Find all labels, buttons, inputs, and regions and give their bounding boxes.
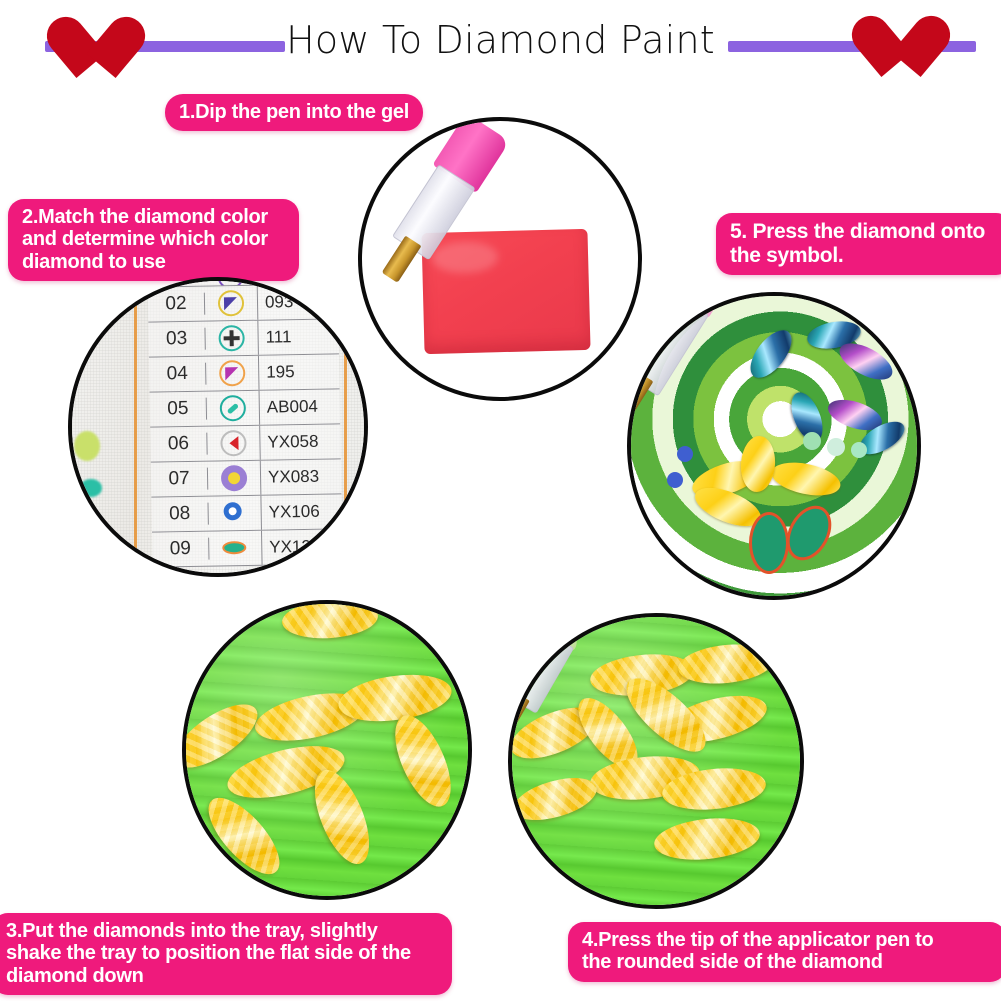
step-5-line-2: the symbol. xyxy=(730,244,998,268)
dot-ring-symbol xyxy=(221,465,247,491)
chart-row-code: 195 xyxy=(259,361,339,382)
gem-round xyxy=(677,446,693,462)
diamonds-in-tray-photo xyxy=(182,600,472,900)
chart-row-code: YX083 xyxy=(261,466,341,487)
chart-row-code: YX106 xyxy=(262,501,342,522)
step-4-line-1: 4.Press the tip of the applicator pen to xyxy=(582,929,992,951)
chart-row-symbol-cell xyxy=(207,426,261,461)
canvas-margin-rule xyxy=(134,281,137,573)
chart-row-number: 06 xyxy=(150,433,207,456)
step-3-line-2: shake the tray to position the flat side… xyxy=(6,942,438,964)
chart-row-code: AB004 xyxy=(260,396,340,417)
infographic-canvas: How To Diamond Paint 1.Dip the pen into … xyxy=(0,0,1001,1001)
chart-row-symbol-cell xyxy=(208,496,262,531)
gem-teal-leaf xyxy=(749,512,789,574)
chart-row-symbol-cell xyxy=(205,286,259,321)
step-2-line-1: 2.Match the diamond color xyxy=(22,206,285,228)
chart-row: 08YX106 xyxy=(151,494,342,532)
triangle-symbol xyxy=(218,290,244,316)
step-3-line-1: 3.Put the diamonds into the tray, slight… xyxy=(6,920,438,942)
place-diamond-on-canvas-photo xyxy=(627,292,921,600)
step-5-line-1: 5. Press the diamond onto xyxy=(730,220,998,244)
donut-symbol xyxy=(221,500,247,526)
gem-round xyxy=(667,472,683,488)
canvas-symbol-blob xyxy=(74,431,100,461)
step-4-label: 4.Press the tip of the applicator pen to… xyxy=(568,922,1001,982)
chart-row: 07YX083 xyxy=(151,459,342,497)
chart-row-number: 09 xyxy=(152,538,209,561)
plus-symbol xyxy=(218,325,244,351)
chart-row-number: 07 xyxy=(151,468,208,491)
chart-row-code: 093 xyxy=(258,291,338,312)
step-3-line-3: diamond down xyxy=(6,965,438,987)
slash-oval-symbol xyxy=(220,395,246,421)
chart-row-number: 05 xyxy=(150,398,207,421)
chart-row-code: 111 xyxy=(258,326,338,347)
canvas-symbol-blob xyxy=(72,513,90,529)
chart-row: 03111 xyxy=(148,319,339,357)
chart-row-symbol-cell xyxy=(205,321,259,356)
chart-row-symbol-cell xyxy=(207,391,261,426)
step-2-line-2: and determine which color xyxy=(22,228,285,250)
canvas-margin-rule xyxy=(344,281,347,573)
chart-row: 06YX058 xyxy=(150,424,341,462)
step-2-label: 2.Match the diamond color and determine … xyxy=(8,199,299,281)
pen-tip-icon xyxy=(508,692,530,749)
leaf-symbol xyxy=(222,535,248,561)
chart-row-symbol-cell xyxy=(206,356,260,391)
chart-row-code: YX125 xyxy=(262,536,342,557)
step-2-line-3: diamond to use xyxy=(22,251,285,273)
chart-row-number: 02 xyxy=(148,293,205,316)
gel-pad xyxy=(421,229,590,355)
triangle-symbol xyxy=(219,360,245,386)
canvas-symbol-blob xyxy=(80,479,102,497)
chart-row-code: YX058 xyxy=(260,431,340,452)
chart-row-number: 03 xyxy=(148,328,205,351)
chart-row-number: 08 xyxy=(152,503,209,526)
color-chart-photo: 02002093031110419505AB00406YX05807YX0830… xyxy=(68,277,368,577)
chevron-left-symbol xyxy=(220,430,246,456)
step-3-label: 3.Put the diamonds into the tray, slight… xyxy=(0,913,452,995)
pen-tip-icon xyxy=(627,372,653,426)
chart-row: 02093 xyxy=(148,284,339,322)
color-chart-table: 02002093031110419505AB00406YX05807YX0830… xyxy=(147,277,342,568)
page-title: How To Diamond Paint xyxy=(0,18,1001,62)
chart-row-symbol-cell xyxy=(209,531,263,566)
step-5-label: 5. Press the diamond onto the symbol. xyxy=(716,213,1001,275)
gem-round xyxy=(851,442,867,458)
chart-row: 05AB004 xyxy=(150,389,341,427)
pen-into-gel-photo xyxy=(358,117,642,401)
pen-tip-icon xyxy=(382,236,422,283)
gem-round xyxy=(827,438,845,456)
step-4-line-2: the rounded side of the diamond xyxy=(582,951,992,973)
gem-round xyxy=(803,432,821,450)
chart-row: 04195 xyxy=(149,354,340,392)
chart-row: 09YX125 xyxy=(152,529,343,567)
chart-row-number: 04 xyxy=(149,363,206,386)
chart-row-symbol-cell xyxy=(208,461,262,496)
pen-picks-diamond-photo xyxy=(508,613,804,909)
